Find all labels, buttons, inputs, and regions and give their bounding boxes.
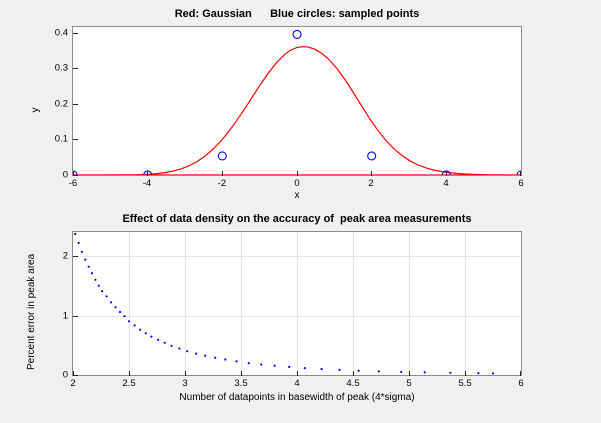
bottom-xaxis-label: Number of datapoints in basewidth of pea… xyxy=(72,392,522,403)
bottom-xtick-label: 2.5 xyxy=(122,378,135,389)
bottom-yaxis-label: Percent error in peak area xyxy=(26,220,37,370)
bottom-xtick-label: 4.5 xyxy=(346,378,359,389)
figure-window: Red: Gaussian Blue circles: sampled poin… xyxy=(0,0,601,423)
bottom-xtick-mark xyxy=(465,371,466,376)
error-curve-points xyxy=(74,233,494,375)
bottom-ytick-mark xyxy=(73,375,78,376)
bottom-xtick-label: 2 xyxy=(70,378,75,389)
bottom-plot-canvas xyxy=(0,0,601,423)
bottom-xtick-label: 3.5 xyxy=(234,378,247,389)
bottom-ytick-mark xyxy=(73,316,78,317)
bottom-xtick-mark xyxy=(185,371,186,376)
bottom-ytick-mark xyxy=(73,256,78,257)
bottom-xtick-mark xyxy=(409,371,410,376)
bottom-xtick-label: 5 xyxy=(406,378,411,389)
bottom-xtick-label: 4 xyxy=(294,378,299,389)
bottom-xtick-label: 3 xyxy=(182,378,187,389)
bottom-xtick-mark xyxy=(520,371,521,376)
bottom-xtick-mark xyxy=(353,371,354,376)
bottom-xtick-label: 6 xyxy=(518,378,523,389)
bottom-ytick-label: 2 xyxy=(41,251,68,262)
bottom-xtick-label: 5.5 xyxy=(458,378,471,389)
bottom-ytick-label: 0 xyxy=(41,370,68,381)
bottom-ytick-label: 1 xyxy=(41,311,68,322)
bottom-xtick-mark xyxy=(129,371,130,376)
bottom-xtick-mark xyxy=(297,371,298,376)
bottom-xtick-mark xyxy=(241,371,242,376)
